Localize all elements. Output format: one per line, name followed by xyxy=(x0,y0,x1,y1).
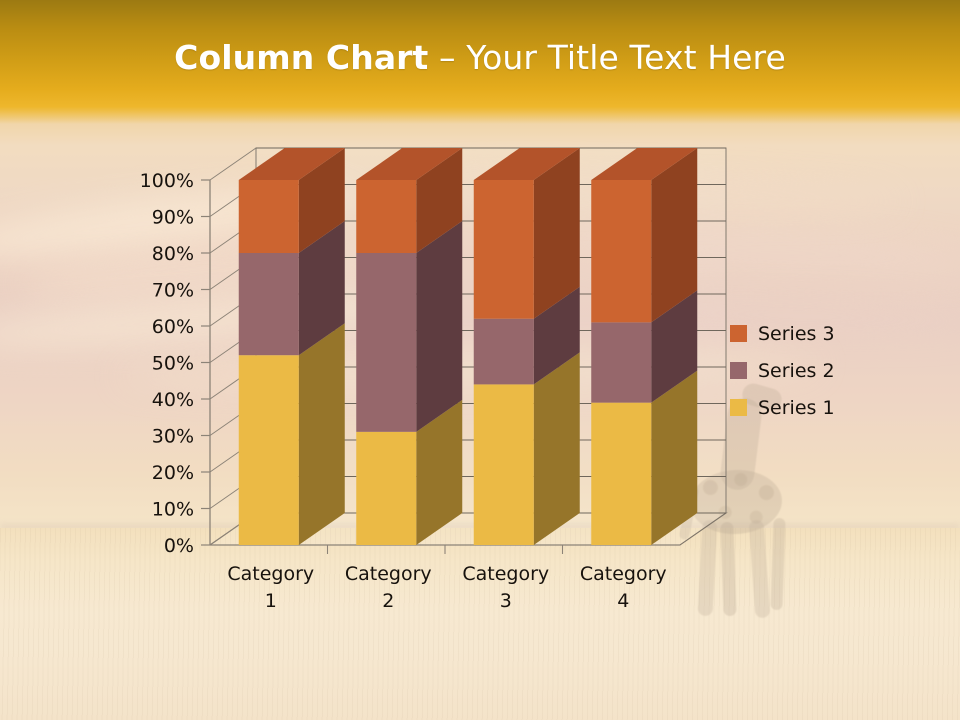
category-label: 1 xyxy=(265,590,277,612)
y-axis-label: 30% xyxy=(152,426,194,448)
y-axis-label: 100% xyxy=(140,170,194,192)
bar-front-face xyxy=(356,253,416,432)
category-label: 3 xyxy=(500,590,512,612)
legend-swatch xyxy=(730,362,747,379)
bar-front-face xyxy=(239,355,299,545)
legend-swatch xyxy=(730,325,747,342)
category-label: 4 xyxy=(617,590,629,612)
bar-front-face xyxy=(356,180,416,253)
y-axis-label: 70% xyxy=(152,280,194,302)
legend-label[interactable]: Series 1 xyxy=(758,397,835,419)
bar-segment[interactable] xyxy=(239,323,345,545)
category-label: Category xyxy=(345,563,432,585)
bar-side-face xyxy=(416,221,462,432)
category-label: 2 xyxy=(382,590,394,612)
y-axis-label: 40% xyxy=(152,389,194,411)
bar-front-face xyxy=(356,432,416,545)
y-axis-label: 90% xyxy=(152,207,194,229)
bar-front-face xyxy=(239,253,299,355)
y-axis-label: 0% xyxy=(164,535,194,557)
category-label: Category xyxy=(580,563,667,585)
y-axis-label: 10% xyxy=(152,499,194,521)
bar-front-face xyxy=(474,180,534,319)
slide: Column Chart – Your Title Text Here 100%… xyxy=(0,0,960,720)
bar-front-face xyxy=(474,319,534,385)
bar-front-face xyxy=(239,180,299,253)
bar-side-face xyxy=(534,352,580,545)
chart-svg: 100%90%80%70%60%50%40%30%20%10%0%Categor… xyxy=(0,0,960,720)
y-axis-label: 60% xyxy=(152,316,194,338)
category-label: Category xyxy=(227,563,314,585)
bar-front-face xyxy=(591,322,651,402)
legend-swatch xyxy=(730,399,747,416)
column-chart[interactable]: 100%90%80%70%60%50%40%30%20%10%0%Categor… xyxy=(0,0,960,720)
bar-front-face xyxy=(474,384,534,545)
legend-label[interactable]: Series 3 xyxy=(758,323,835,345)
bar-side-face xyxy=(299,323,345,545)
y-axis-label: 50% xyxy=(152,353,194,375)
bar-front-face xyxy=(591,403,651,545)
y-axis-label: 80% xyxy=(152,243,194,265)
y-axis-label: 20% xyxy=(152,462,194,484)
bar-front-face xyxy=(591,180,651,322)
category-label: Category xyxy=(462,563,549,585)
legend-label[interactable]: Series 2 xyxy=(758,360,835,382)
